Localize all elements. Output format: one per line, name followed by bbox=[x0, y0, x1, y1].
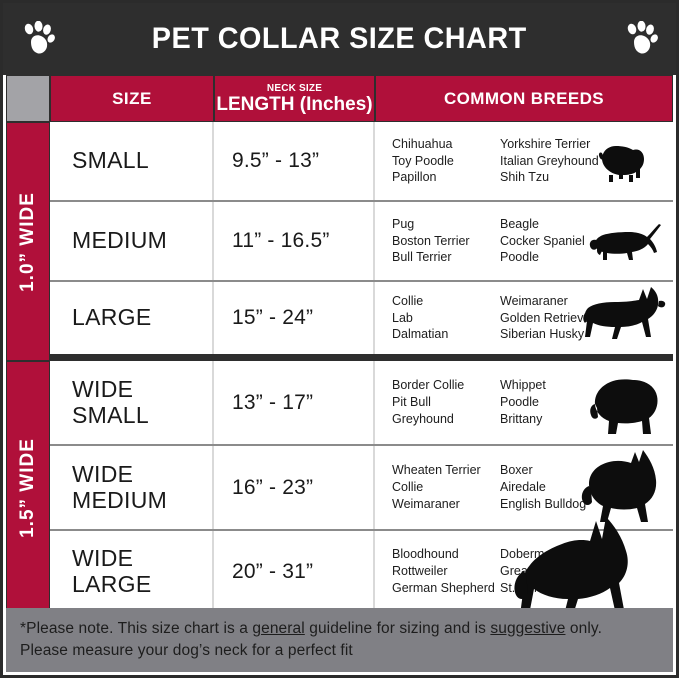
breeds-column-2: Boxer Airedale English Bulldog bbox=[500, 462, 620, 513]
table-row: WIDE SMALL 13” - 17” Border Collie Pit B… bbox=[50, 361, 673, 446]
cell-breeds: Border Collie Pit Bull Greyhound Whippet… bbox=[375, 361, 673, 444]
breeds-column-1: Wheaten Terrier Collie Weimaraner bbox=[392, 462, 500, 513]
breeds-column-1: Pug Boston Terrier Bull Terrier bbox=[392, 216, 500, 267]
breed-item: Collie bbox=[392, 479, 500, 496]
breeds-column-2: Whippet Poodle Brittany bbox=[500, 377, 620, 428]
table-row: MEDIUM 11” - 16.5” Pug Boston Terrier Bu… bbox=[50, 202, 673, 282]
breed-item: Poodle bbox=[500, 394, 620, 411]
cell-size: LARGE bbox=[50, 282, 214, 354]
cell-size: WIDE SMALL bbox=[50, 361, 214, 444]
cell-size-line: SMALL bbox=[50, 403, 212, 429]
breed-item: Toy Poodle bbox=[392, 153, 500, 170]
paw-print-icon bbox=[21, 21, 55, 57]
breed-item: Shih Tzu bbox=[500, 169, 620, 186]
breed-item: Cocker Spaniel bbox=[500, 233, 620, 250]
breeds-column-2: Weimaraner Golden Retriever Siberian Hus… bbox=[500, 293, 620, 344]
footer-text-c: only. bbox=[565, 620, 602, 637]
column-header-breeds: COMMON BREEDS bbox=[375, 75, 673, 122]
breed-item: German Shepherd bbox=[392, 580, 500, 597]
group-band-1-5-wide-label: 1.5” WIDE bbox=[17, 438, 39, 538]
footer-line-2: Please measure your dog’s neck for a per… bbox=[20, 640, 659, 662]
breed-item: Brittany bbox=[500, 411, 620, 428]
breed-item: Collie bbox=[392, 293, 500, 310]
breed-item: Golden Retriever bbox=[500, 310, 620, 327]
breed-item: Border Collie bbox=[392, 377, 500, 394]
chart-title-bar: PET COLLAR SIZE CHART bbox=[3, 3, 676, 75]
breed-item: Lab bbox=[392, 310, 500, 327]
breeds-column-1: Border Collie Pit Bull Greyhound bbox=[392, 377, 500, 428]
breed-item: English Bulldog bbox=[500, 496, 620, 513]
footer-line-1: *Please note. This size chart is a gener… bbox=[20, 618, 659, 640]
breed-item: Pug bbox=[392, 216, 500, 233]
group-band-1-0-wide-label: 1.0” WIDE bbox=[17, 192, 39, 292]
table-row: LARGE 15” - 24” Collie Lab Dalmatian Wei… bbox=[50, 282, 673, 361]
footer-underlined-general: general bbox=[252, 620, 304, 637]
breed-item: Bloodhound bbox=[392, 546, 500, 563]
breed-item: Siberian Husky bbox=[500, 326, 620, 343]
cell-size-line: MEDIUM bbox=[50, 488, 212, 514]
breed-item: Bull Terrier bbox=[392, 249, 500, 266]
cell-length: 9.5” - 13” bbox=[214, 122, 375, 200]
footer-note: *Please note. This size chart is a gener… bbox=[6, 608, 673, 672]
column-header-neck-size-label: NECK SIZE bbox=[267, 84, 322, 94]
cell-size-line: LARGE bbox=[50, 572, 212, 598]
breed-item: Wheaten Terrier bbox=[392, 462, 500, 479]
breed-item: Weimaraner bbox=[392, 496, 500, 513]
breeds-column-2: Yorkshire Terrier Italian Greyhound Shih… bbox=[500, 136, 620, 187]
breed-item: Chihuahua bbox=[392, 136, 500, 153]
cell-length: 11” - 16.5” bbox=[214, 202, 375, 280]
breed-item: Rottweiler bbox=[392, 563, 500, 580]
breed-item: Weimaraner bbox=[500, 293, 620, 310]
footer-underlined-suggestive: suggestive bbox=[490, 620, 565, 637]
footer-text-a: *Please note. This size chart is a bbox=[20, 620, 252, 637]
breed-item: Pit Bull bbox=[392, 394, 500, 411]
table-row: SMALL 9.5” - 13” Chihuahua Toy Poodle Pa… bbox=[50, 122, 673, 202]
cell-length: 20” - 31” bbox=[214, 531, 375, 612]
paw-print-icon bbox=[624, 21, 658, 57]
breeds-column-1: Collie Lab Dalmatian bbox=[392, 293, 500, 344]
pet-collar-size-chart: PET COLLAR SIZE CHART SIZE NECK SIZE LEN… bbox=[0, 0, 679, 678]
column-header-length: NECK SIZE LENGTH (Inches) bbox=[214, 75, 375, 122]
cell-size-line: WIDE bbox=[50, 377, 212, 403]
cell-size-line: WIDE bbox=[50, 546, 212, 572]
breed-item: Papillon bbox=[392, 169, 500, 186]
breed-item: Beagle bbox=[500, 216, 620, 233]
breed-item: Dalmatian bbox=[392, 326, 500, 343]
breed-item: Italian Greyhound bbox=[500, 153, 620, 170]
cell-size-line: MEDIUM bbox=[50, 228, 212, 254]
cell-breeds: Pug Boston Terrier Bull Terrier Beagle C… bbox=[375, 202, 673, 280]
cell-size: SMALL bbox=[50, 122, 214, 200]
column-header-size: SIZE bbox=[50, 75, 214, 122]
column-header-breeds-label: COMMON BREEDS bbox=[444, 89, 604, 109]
page-title: PET COLLAR SIZE CHART bbox=[152, 22, 527, 56]
cell-size-line: WIDE bbox=[50, 462, 212, 488]
column-header-size-label: SIZE bbox=[112, 89, 152, 109]
breeds-column-1: Bloodhound Rottweiler German Shepherd bbox=[392, 546, 500, 597]
cell-size: WIDE MEDIUM bbox=[50, 446, 214, 529]
header-corner-cell bbox=[6, 75, 50, 122]
breed-item: Poodle bbox=[500, 249, 620, 266]
column-header-length-label: LENGTH (Inches) bbox=[216, 95, 372, 114]
breeds-column-1: Chihuahua Toy Poodle Papillon bbox=[392, 136, 500, 187]
table-header-row: SIZE NECK SIZE LENGTH (Inches) COMMON BR… bbox=[3, 75, 676, 122]
cell-size-line: SMALL bbox=[50, 148, 212, 174]
cell-breeds: Collie Lab Dalmatian Weimaraner Golden R… bbox=[375, 282, 673, 354]
breed-item: Boston Terrier bbox=[392, 233, 500, 250]
cell-breeds: Chihuahua Toy Poodle Papillon Yorkshire … bbox=[375, 122, 673, 200]
cell-size-line: LARGE bbox=[50, 305, 212, 331]
cell-length: 13” - 17” bbox=[214, 361, 375, 444]
breed-item: Whippet bbox=[500, 377, 620, 394]
cell-length: 16” - 23” bbox=[214, 446, 375, 529]
group-band-1-5-wide: 1.5” WIDE bbox=[6, 361, 50, 614]
breed-item: Airedale bbox=[500, 479, 620, 496]
cell-size: MEDIUM bbox=[50, 202, 214, 280]
breeds-column-2: Beagle Cocker Spaniel Poodle bbox=[500, 216, 620, 267]
footer-text-b: guideline for sizing and is bbox=[305, 620, 491, 637]
group-band-1-0-wide: 1.0” WIDE bbox=[6, 122, 50, 361]
breed-item: Greyhound bbox=[392, 411, 500, 428]
cell-length: 15” - 24” bbox=[214, 282, 375, 354]
breed-item: Boxer bbox=[500, 462, 620, 479]
breed-item: Yorkshire Terrier bbox=[500, 136, 620, 153]
cell-size: WIDE LARGE bbox=[50, 531, 214, 612]
